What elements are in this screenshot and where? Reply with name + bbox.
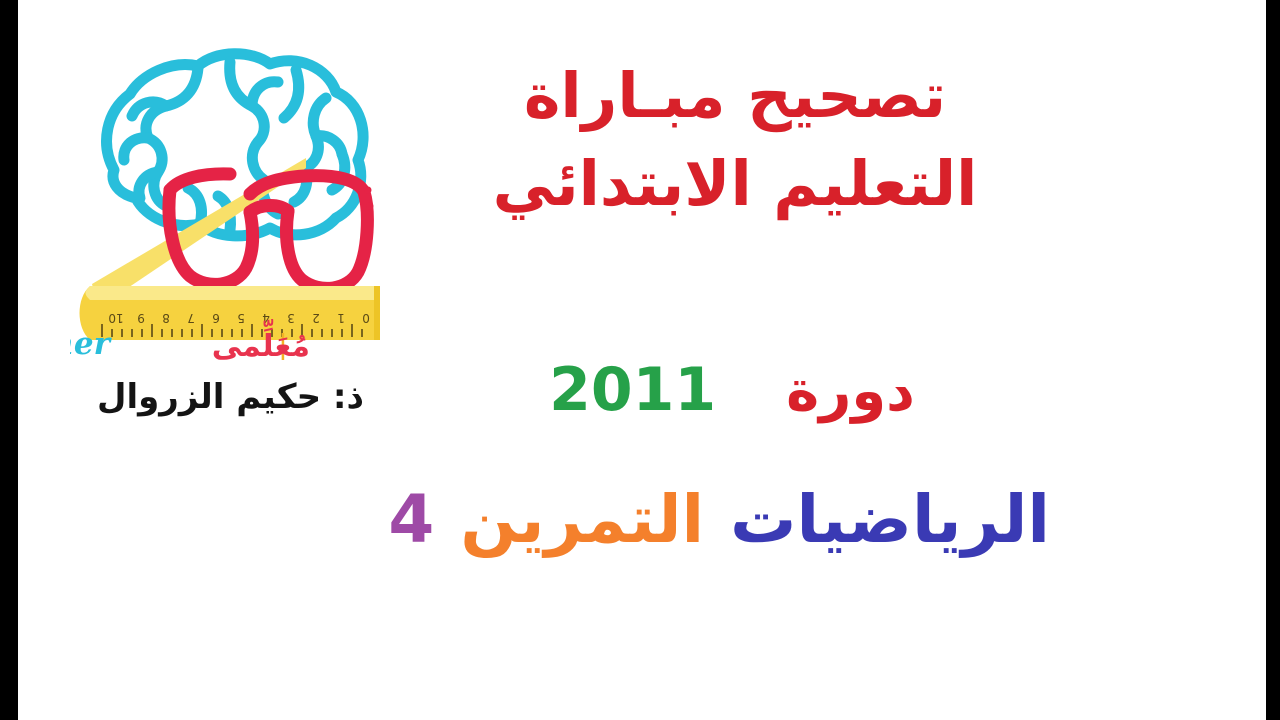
headline-line-1: تصحيح مبـاراة xyxy=(425,52,1045,140)
exercise-label: التمرين xyxy=(460,487,704,553)
logo-artwork: 0 1 2 3 4 5 6 7 8 9 10 My Teacher | مُعَ… xyxy=(70,40,410,360)
svg-text:8: 8 xyxy=(162,311,170,325)
subject-name: الرياضيات xyxy=(730,487,1050,553)
svg-text:7: 7 xyxy=(187,311,195,325)
svg-text:4: 4 xyxy=(262,311,270,325)
svg-text:1: 1 xyxy=(337,311,345,325)
letterbox-bar-right xyxy=(1266,0,1280,720)
headline: تصحيح مبـاراة التعليم الابتدائي xyxy=(425,52,1045,228)
svg-text:6: 6 xyxy=(212,311,220,325)
logo-latin-wordmark: My Teacher xyxy=(70,326,113,360)
exercise-number: 4 xyxy=(388,487,434,553)
svg-text:10: 10 xyxy=(108,311,123,325)
subject-row: الرياضيات التمرين 4 xyxy=(220,487,1050,553)
svg-text:2: 2 xyxy=(312,311,320,325)
teacher-name: ذ: حكيم الزروال xyxy=(58,378,403,417)
svg-text:3: 3 xyxy=(287,311,295,325)
session-year: 2011 xyxy=(549,360,716,420)
svg-text:9: 9 xyxy=(137,311,145,325)
svg-text:5: 5 xyxy=(237,311,245,325)
headline-line-2: التعليم الابتدائي xyxy=(425,140,1045,228)
video-thumbnail: 0 1 2 3 4 5 6 7 8 9 10 My Teacher | مُعَ… xyxy=(0,0,1280,720)
my-teacher-logo: 0 1 2 3 4 5 6 7 8 9 10 My Teacher | مُعَ… xyxy=(70,40,410,360)
session-row: دورة 2011 xyxy=(432,360,1032,420)
svg-text:0: 0 xyxy=(362,311,370,325)
letterbox-bar-left xyxy=(0,0,18,720)
session-label: دورة xyxy=(786,364,915,420)
